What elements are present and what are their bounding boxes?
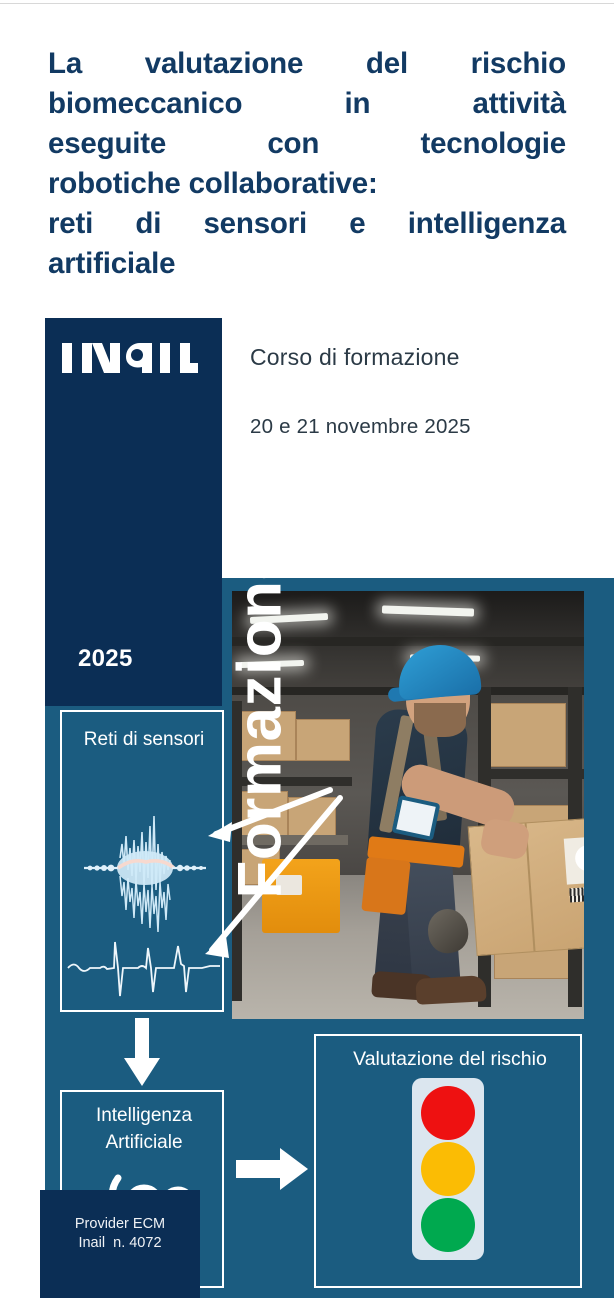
title-line-5: reti di sensori e intelligenza <box>48 204 566 244</box>
ai-box-caption: Intelligenza Artificiale <box>62 1102 226 1156</box>
sensors-box-caption: Reti di sensori <box>62 726 226 754</box>
vertical-banner-label: Formazione <box>225 528 296 1168</box>
title-line-2: biomeccanico in attività <box>48 84 566 124</box>
risk-box-caption: Valutazione del rischio <box>316 1046 584 1072</box>
photo-carton <box>296 719 350 761</box>
course-date-label: 20 e 21 novembre 2025 <box>250 415 471 439</box>
traffic-light-amber <box>421 1142 475 1196</box>
title-line-6: artificiale <box>48 244 566 284</box>
traffic-light-green <box>421 1198 475 1252</box>
course-type-label: Corso di formazione <box>250 344 460 371</box>
provider-badge: Provider ECM Inail n. 4072 <box>40 1190 200 1298</box>
page-title: La valutazione del rischio biomeccanico … <box>48 44 566 284</box>
box-barcode <box>569 886 584 903</box>
inail-logo <box>60 338 200 378</box>
worker-shoe <box>415 975 486 1005</box>
worker-belt-pouch <box>361 857 410 915</box>
arrow-down-icon <box>124 1018 160 1086</box>
emg-waveform <box>84 816 206 932</box>
photo-carton <box>490 703 566 767</box>
year-label: 2025 <box>78 645 133 673</box>
year-panel <box>45 576 222 706</box>
traffic-light-icon <box>412 1078 484 1260</box>
title-line-4: robotiche collaborative: <box>48 164 566 204</box>
worker-beard <box>414 703 466 737</box>
top-divider-line <box>0 3 614 4</box>
provider-line-2: Inail n. 4072 <box>78 1235 161 1251</box>
provider-line-1: Provider ECM <box>75 1216 165 1232</box>
sensors-box: Reti di sensori <box>60 710 224 1012</box>
title-line-3: eseguite con tecnologie <box>48 124 566 164</box>
title-line-1: La valutazione del rischio <box>48 44 566 84</box>
traffic-light-red <box>421 1086 475 1140</box>
ecg-waveform <box>68 942 220 996</box>
sensor-waveforms <box>66 796 222 1006</box>
provider-badge-text: Provider ECM Inail n. 4072 <box>40 1215 200 1253</box>
